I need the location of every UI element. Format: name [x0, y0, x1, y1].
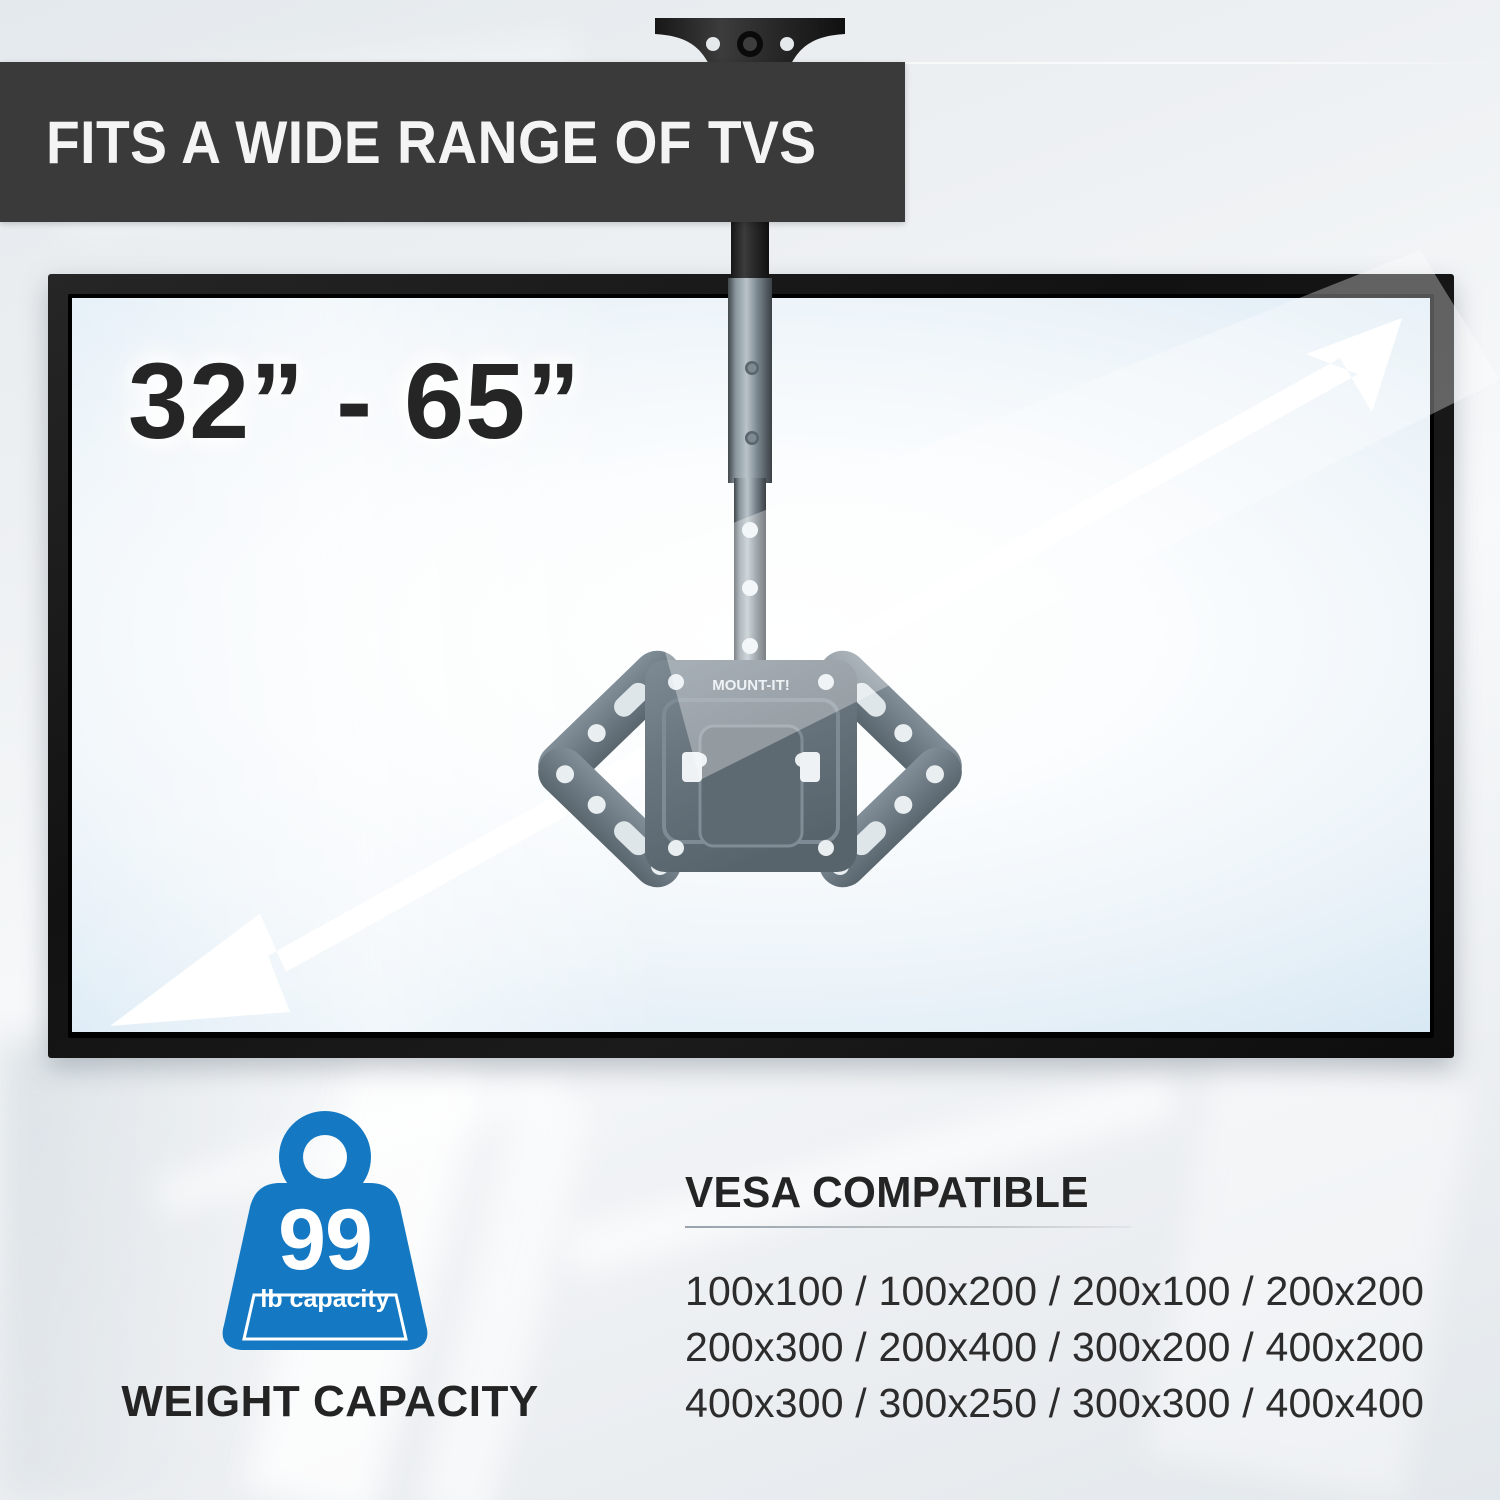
header-banner: FITS A WIDE RANGE OF TVS [0, 62, 905, 222]
vesa-title-underline [685, 1226, 1131, 1228]
weight-value: 99 [210, 1197, 440, 1283]
vesa-pattern-row: 200x300 / 200x400 / 300x200 / 400x200 [685, 1320, 1405, 1376]
weight-unit-label: lb capacity [210, 1285, 440, 1314]
weight-capacity-caption: WEIGHT CAPACITY [95, 1377, 565, 1427]
weight-capacity-block: 99 lb capacity WEIGHT CAPACITY [95, 1105, 565, 1455]
tv-screen: 32” - 65” [72, 298, 1430, 1032]
vesa-pattern-list: 100x100 / 100x200 / 200x100 / 200x200 20… [685, 1264, 1405, 1431]
tv-display: 32” - 65” [48, 274, 1454, 1058]
infographic-canvas: 32” - 65” [0, 0, 1500, 1500]
vesa-pattern-row: 400x300 / 300x250 / 300x300 / 400x400 [685, 1376, 1405, 1432]
tv-size-range-label: 32” - 65” [128, 338, 581, 463]
header-banner-title: FITS A WIDE RANGE OF TVS [46, 108, 817, 177]
vesa-block: VESA COMPATIBLE 100x100 / 100x200 / 200x… [685, 1168, 1405, 1431]
vesa-title: VESA COMPATIBLE [685, 1168, 1376, 1218]
vesa-pattern-row: 100x100 / 100x200 / 200x100 / 200x200 [685, 1264, 1405, 1320]
weight-icon: 99 lb capacity [210, 1105, 440, 1350]
